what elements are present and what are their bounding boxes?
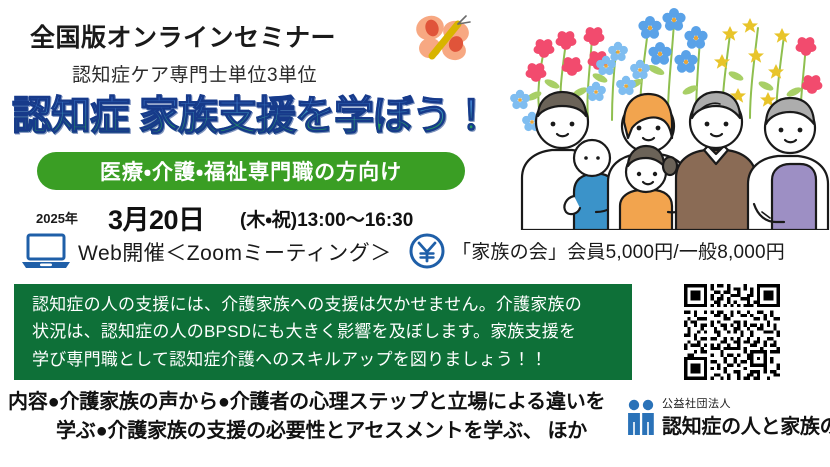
venue-text: Web開催＜Zoomミーティング＞ [78, 237, 392, 267]
event-date: 3月20日 [108, 198, 205, 237]
target-audience-badge: 医療・介護・福祉専門職の方向け [37, 152, 465, 190]
content-block: 内容●介護家族の声から●介護者の心理ステップと立場による違いを 学ぶ●介護家族の… [8, 388, 618, 446]
yen-circle-icon [408, 232, 446, 270]
description-line: 認知症の人の支援には、介護家族への支援は欠かせません。介護家族の [32, 291, 614, 319]
organization-kicker: 公益社団法人 [662, 395, 731, 411]
poster-root: 全国版オンラインセミナー 認知症ケア専門士単位3単位 認知症 家族支援を学ぼう！… [0, 0, 830, 467]
description-line: 状況は、認知症の人のBPSDにも大きく影響を及ぼします。家族支援を [32, 318, 614, 346]
description-box: 認知症の人の支援には、介護家族への支援は欠かせません。介護家族の 状況は、認知症… [14, 284, 632, 380]
organization-name: 認知症の人と家族の会 [662, 410, 830, 439]
event-day-time: (木・祝)13:00〜16:30 [240, 205, 413, 232]
people-figures-icon [626, 398, 656, 438]
target-audience-label: 医療・介護・福祉専門職の方向け [100, 156, 402, 186]
fee-text: 「家族の会」会員5,000円/一般8,000円 [452, 237, 785, 264]
qr-code[interactable] [684, 284, 780, 380]
family-with-flowers-illustration [500, 0, 830, 230]
year-label: 2025年 [36, 208, 78, 227]
page-title: 認知症 家族支援を学ぼう！ [12, 96, 490, 136]
content-line: 学ぶ●介護家族の支援の必要性とアセスメントを学ぶ、 ほか [8, 417, 618, 446]
seminar-kicker: 全国版オンラインセミナー [30, 18, 390, 54]
description-line: 学び専門職として認知症介護へのスキルアップを図りましょう！！ [32, 346, 614, 374]
content-line: 内容●介護家族の声から●介護者の心理ステップと立場による違いを [8, 388, 618, 417]
laptop-icon [20, 232, 72, 270]
unit-subtitle: 認知症ケア専門士単位3単位 [72, 60, 402, 87]
organization-logo: 公益社団法人 認知症の人と家族の会 [626, 392, 826, 448]
butterfly-icon [410, 10, 482, 68]
